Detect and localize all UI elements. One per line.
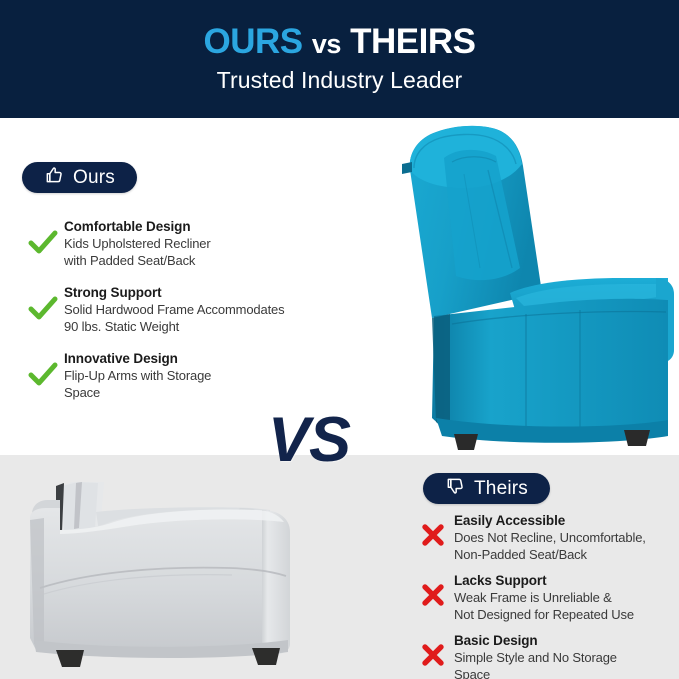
- feature-title: Innovative Design: [64, 351, 178, 366]
- feature-desc: Does Not Recline, Uncomfortable, Non-Pad…: [454, 530, 674, 563]
- check-icon: [22, 218, 64, 256]
- badge-ours[interactable]: Ours: [22, 162, 137, 193]
- list-item: Comfortable Design Kids Upholstered Recl…: [22, 218, 372, 269]
- cross-icon: [412, 512, 454, 548]
- list-item: Strong Support Solid Hardwood Frame Acco…: [22, 284, 372, 335]
- feature-title: Strong Support: [64, 285, 162, 300]
- feature-desc: Kids Upholstered Recliner with Padded Se…: [64, 236, 372, 269]
- cross-icon: [412, 632, 454, 668]
- blue-recliner-photo: [392, 118, 679, 463]
- feature-title: Basic Design: [454, 633, 538, 648]
- page-subtitle: Trusted Industry Leader: [217, 67, 463, 94]
- page-title: OURS vs THEIRS: [204, 24, 476, 61]
- feature-title: Comfortable Design: [64, 219, 190, 234]
- list-item: Basic Design Simple Style and No Storage…: [412, 632, 674, 679]
- cons-list: Easily Accessible Does Not Recline, Unco…: [412, 512, 674, 679]
- badge-theirs[interactable]: Theirs: [423, 473, 550, 504]
- list-item: Innovative Design Flip-Up Arms with Stor…: [22, 350, 372, 401]
- comparison-infographic: OURS vs THEIRS Trusted Industry Leader V…: [0, 0, 679, 679]
- check-icon: [22, 350, 64, 388]
- badge-theirs-label: Theirs: [474, 478, 528, 500]
- feature-desc: Simple Style and No Storage Space: [454, 650, 674, 679]
- check-icon: [22, 284, 64, 322]
- badge-ours-label: Ours: [73, 167, 115, 189]
- title-theirs: THEIRS: [350, 22, 475, 61]
- feature-desc: Flip-Up Arms with Storage Space: [64, 368, 372, 401]
- pros-list: Comfortable Design Kids Upholstered Recl…: [22, 218, 372, 416]
- title-vs: vs: [312, 29, 341, 59]
- title-ours: OURS: [204, 22, 303, 61]
- list-item: Easily Accessible Does Not Recline, Unco…: [412, 512, 674, 563]
- feature-desc: Solid Hardwood Frame Accommodates 90 lbs…: [64, 302, 372, 335]
- feature-title: Easily Accessible: [454, 513, 565, 528]
- feature-desc: Weak Frame is Unreliable & Not Designed …: [454, 590, 674, 623]
- thumbs-up-icon: [44, 165, 64, 190]
- white-chair-photo: [0, 448, 320, 679]
- thumbs-down-icon: [445, 476, 465, 501]
- feature-title: Lacks Support: [454, 573, 546, 588]
- cross-icon: [412, 572, 454, 608]
- header-banner: OURS vs THEIRS Trusted Industry Leader: [0, 0, 679, 118]
- list-item: Lacks Support Weak Frame is Unreliable &…: [412, 572, 674, 623]
